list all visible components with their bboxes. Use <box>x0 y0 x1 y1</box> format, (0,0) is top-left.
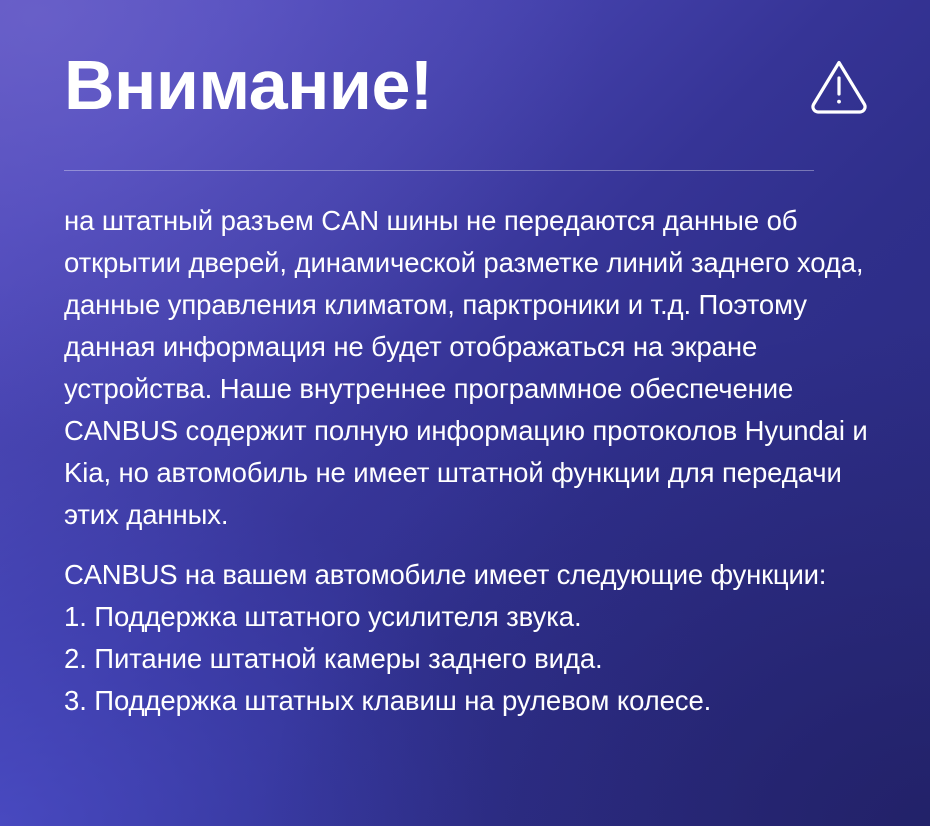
body-paragraph: на штатный разъем CAN шины не передаются… <box>64 171 875 536</box>
attention-banner: Внимание! на штатный разъем CAN шины не … <box>0 0 930 826</box>
warning-triangle-icon <box>809 55 869 115</box>
features-block: CANBUS на вашем автомобиле имеет следующ… <box>64 536 875 722</box>
features-intro: CANBUS на вашем автомобиле имеет следующ… <box>64 554 875 596</box>
list-item: 3. Поддержка штатных клавиш на рулевом к… <box>64 680 875 722</box>
page-title: Внимание! <box>64 50 433 120</box>
features-list: 1. Поддержка штатного усилителя звука. 2… <box>64 596 875 722</box>
banner-header: Внимание! <box>64 0 875 170</box>
banner-content: Внимание! на штатный разъем CAN шины не … <box>0 0 930 722</box>
list-item: 2. Питание штатной камеры заднего вида. <box>64 638 875 680</box>
list-item: 1. Поддержка штатного усилителя звука. <box>64 596 875 638</box>
